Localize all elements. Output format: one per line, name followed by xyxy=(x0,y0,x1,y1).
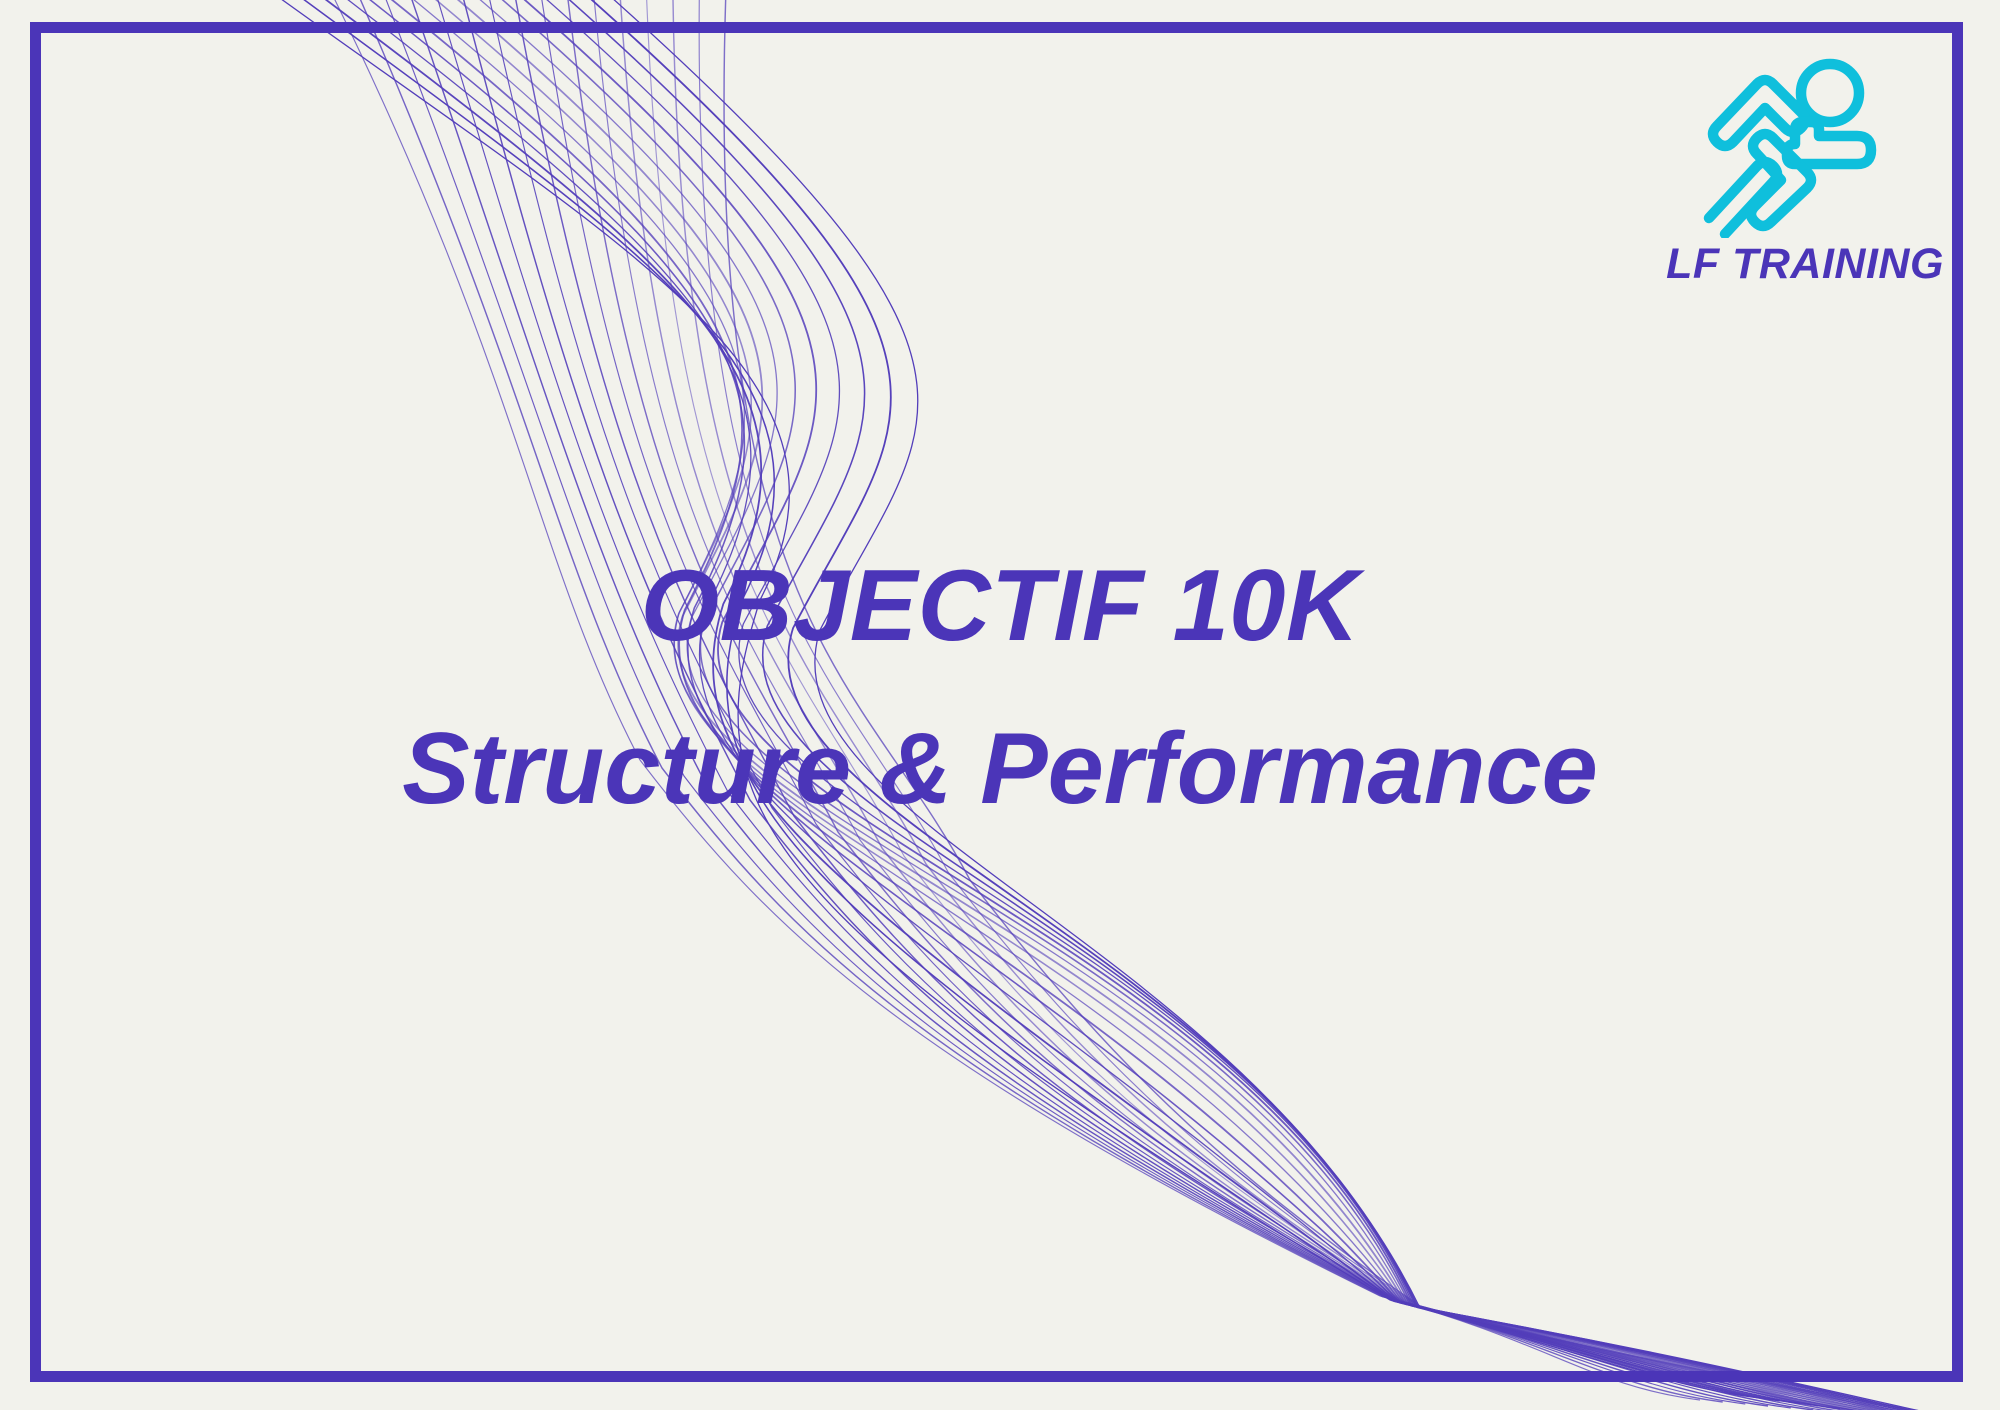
slide-canvas: LF TRAINING OBJECTIF 10K Structure & Per… xyxy=(0,0,2000,1410)
brand-logo: LF TRAINING xyxy=(1665,58,1945,303)
page-title: OBJECTIF 10K xyxy=(0,556,2000,657)
running-person-icon xyxy=(1695,58,1895,238)
logo-leg-front xyxy=(1751,134,1811,226)
page-subtitle: Structure & Performance xyxy=(0,719,2000,820)
logo-head-circle xyxy=(1801,64,1859,122)
logo-wordmark: LF TRAINING xyxy=(1665,240,1945,289)
headline-block: OBJECTIF 10K Structure & Performance xyxy=(0,556,2000,820)
